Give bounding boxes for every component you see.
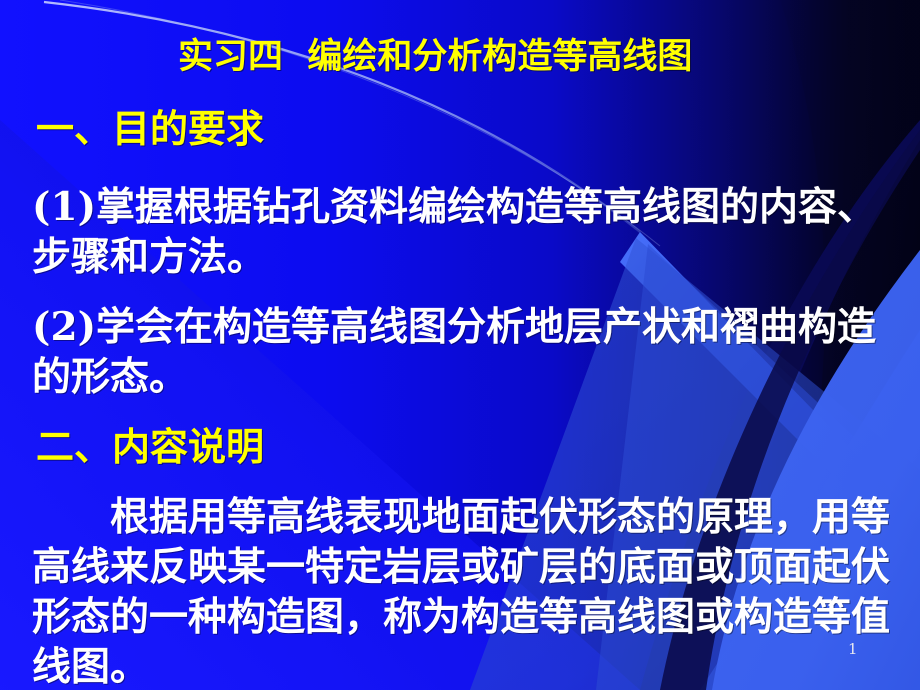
objective-item-one: (1)掌握根据钻孔资料编绘构造等高线图的内容、步骤和方法。 [32,182,898,282]
slide-title: 实习四 编绘和分析构造等高线图 [178,35,878,79]
section-heading-one: 一、目的要求 [36,106,264,152]
section-heading-two: 二、内容说明 [36,424,264,470]
slide-content: 实习四 编绘和分析构造等高线图 一、目的要求 (1)掌握根据钻孔资料编绘构造等高… [0,0,920,690]
content-description-paragraph: 根据用等高线表现地面起伏形态的原理，用等高线来反映某一特定岩层或矿层的底面或顶面… [32,492,902,690]
page-number: 1 [848,640,858,658]
objective-item-two: (2)学会在构造等高线图分析地层产状和褶曲构造的形态。 [32,302,898,402]
presentation-slide: 实习四 编绘和分析构造等高线图 一、目的要求 (1)掌握根据钻孔资料编绘构造等高… [0,0,920,690]
